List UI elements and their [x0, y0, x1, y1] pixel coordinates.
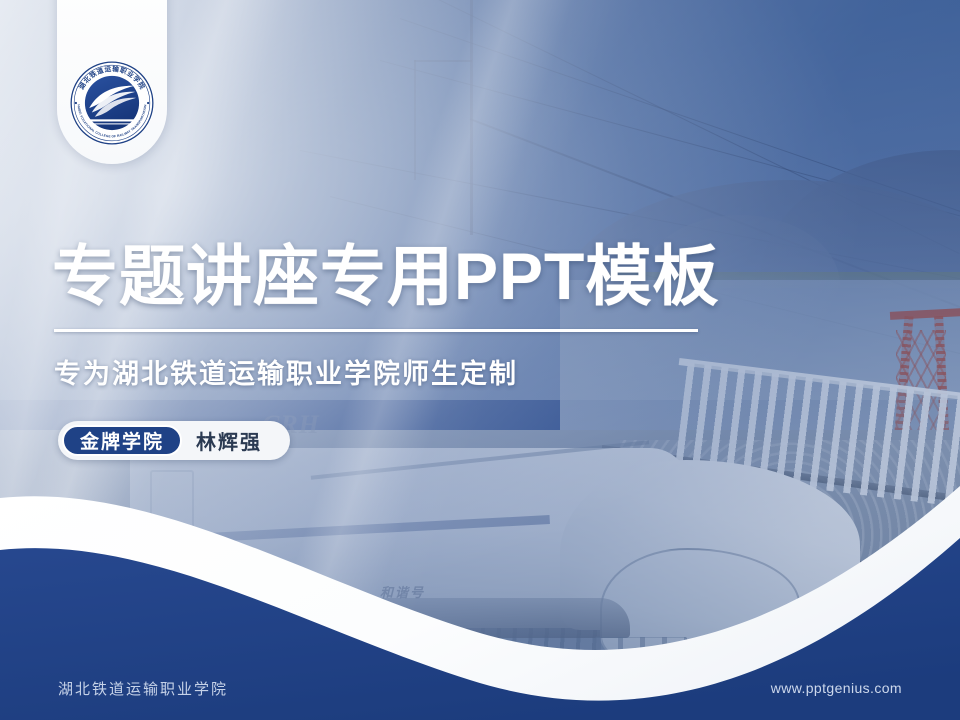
badge-tag-label: 金牌学院: [62, 425, 182, 456]
hubei-railway-college-emblem-icon: 湖北铁道运输职业学院 HUBEI VOCATIONAL COLLEGE OF R…: [69, 60, 155, 146]
footer-website-link[interactable]: www.pptgenius.com: [771, 680, 902, 696]
logo-tab-panel: 湖北铁道运输职业学院 HUBEI VOCATIONAL COLLEGE OF R…: [57, 0, 167, 164]
footer-institution-label: 湖北铁道运输职业学院: [58, 678, 228, 699]
presenter-badge: 金牌学院 林辉强: [58, 421, 290, 460]
presentation-title-slide: 和谐号 CRH CRH2: [0, 0, 960, 720]
title-divider: [54, 329, 698, 332]
presenter-name-label: 林辉强: [196, 426, 262, 455]
page-subtitle: 专为湖北铁道运输职业学院师生定制: [54, 352, 518, 391]
page-title: 专题讲座专用PPT模板: [52, 243, 719, 310]
